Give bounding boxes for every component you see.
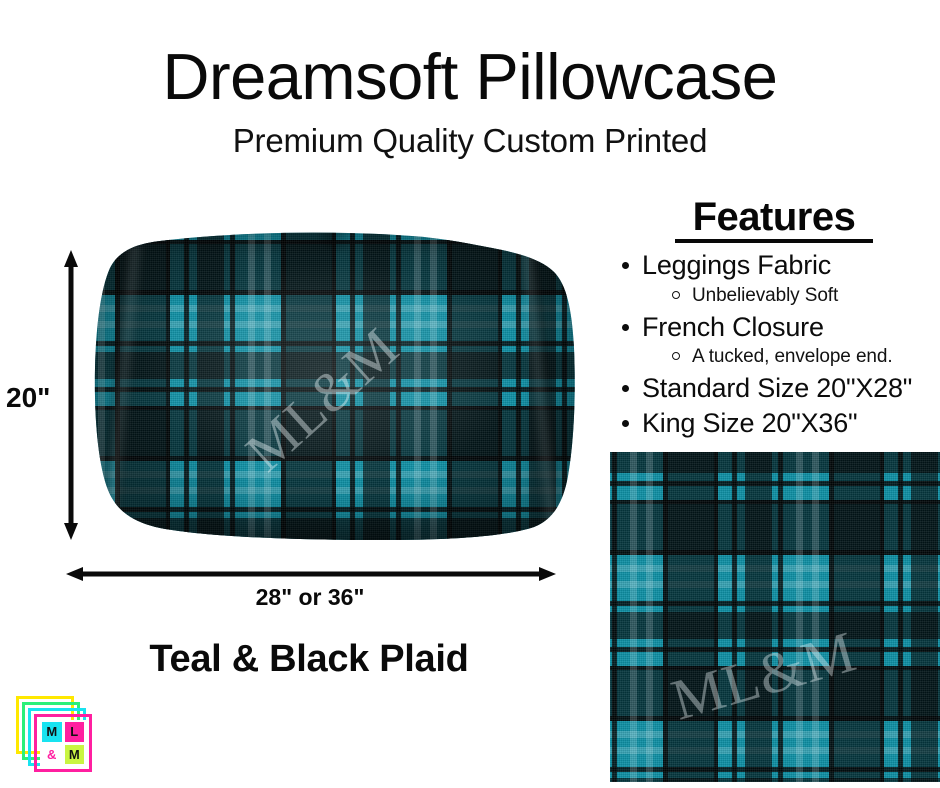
feature-label: Leggings Fabric [642,250,831,280]
feature-subitem: Unbelievably Soft [668,283,940,310]
brand-logo: M L & M [14,694,94,774]
features-heading-underline [675,239,873,243]
feature-label: Standard Size 20"X28" [642,373,912,403]
pillow-shape: ML&M [82,228,580,540]
logo-tile-m2: M [65,745,85,765]
pillow-illustration: ML&M [82,228,580,540]
height-dimension-label: 20" [6,382,50,414]
feature-item: Standard Size 20"X28" [608,371,940,406]
page-title: Dreamsoft Pillowcase [0,44,940,110]
fabric-swatch: ML&M ML&M [610,452,940,782]
feature-item: King Size 20"X36" [608,406,940,441]
feature-label: King Size 20"X36" [642,408,857,438]
feature-label: French Closure [642,312,824,342]
features-section: Features Leggings Fabric Unbelievably So… [608,196,940,440]
feature-subitem: A tucked, envelope end. [668,344,940,371]
feature-item: French Closure A tucked, envelope end. [608,310,940,372]
features-heading: Features [608,196,940,238]
width-dimension-label: 28" or 36" [0,584,620,611]
feature-item: Leggings Fabric Unbelievably Soft [608,248,940,310]
features-list: Leggings Fabric Unbelievably Soft French… [608,248,940,440]
logo-tile-m1: M [42,722,62,742]
page-subtitle: Premium Quality Custom Printed [0,124,940,159]
height-dimension-arrow [63,250,79,540]
product-infographic: Dreamsoft Pillowcase Premium Quality Cus… [0,0,940,788]
logo-tile-amp: & [42,745,62,765]
width-dimension-arrow [66,566,556,582]
swatch-plaid-fabric [610,452,940,782]
pillow-plaid-fabric [82,228,580,540]
logo-tile-l: L [65,722,85,742]
product-caption: Teal & Black Plaid [0,638,618,681]
logo-tiles: M L & M [40,720,86,766]
